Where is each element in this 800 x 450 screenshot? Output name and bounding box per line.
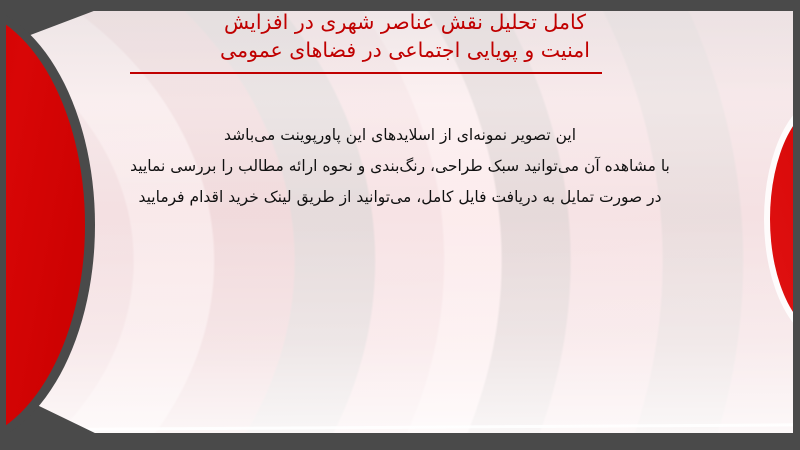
slide-body-text: این تصویر نمونه‌ای از اسلایدهای این پاور… [110,120,690,213]
slide-title-line-1: کامل تحلیل نقش عناصر شهری در افزایش [105,8,705,36]
background-sheen [6,11,793,433]
slide-title: کامل تحلیل نقش عناصر شهری در افزایش امنی… [105,8,705,64]
slide-body-line-3: در صورت تمایل به دریافت فایل کامل، می‌تو… [110,182,690,213]
slide-background-panel [6,11,793,433]
frame-bar-bottom [0,433,800,450]
slide-body-line-1: این تصویر نمونه‌ای از اسلایدهای این پاور… [110,120,690,151]
presentation-slide: کامل تحلیل نقش عناصر شهری در افزایش امنی… [0,0,800,450]
title-underline-rule [130,72,602,74]
slide-title-line-2: امنیت و پویایی اجتماعی در فضاهای عمومی [105,36,705,64]
frame-bar-left [0,0,6,450]
slide-body-line-2: با مشاهده آن می‌توانید سبک طراحی، رنگ‌بن… [110,151,690,182]
frame-bar-right [793,0,800,450]
